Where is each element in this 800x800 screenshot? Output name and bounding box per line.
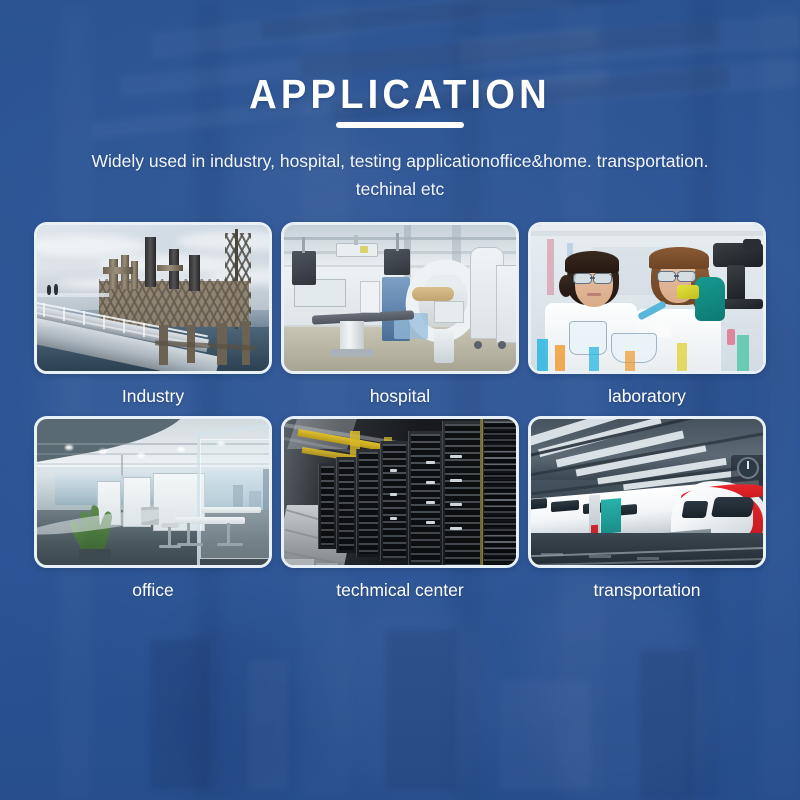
tile-hospital-frame[interactable]: [281, 222, 519, 374]
tile-laboratory-frame[interactable]: [528, 222, 766, 374]
high-speed-train-station-photo: [531, 419, 763, 565]
tile-office[interactable]: office: [34, 416, 272, 601]
tile-industry[interactable]: Industry: [34, 222, 272, 407]
tile-row-1: Industry: [34, 222, 766, 407]
tile-row-2: office: [34, 416, 766, 601]
page-subtitle: Widely used in industry, hospital, testi…: [90, 147, 710, 203]
tile-techmical-center[interactable]: techmical center: [281, 416, 519, 601]
tile-caption-techmical-center: techmical center: [281, 579, 519, 601]
tile-caption-laboratory: laboratory: [528, 385, 766, 407]
tile-hospital[interactable]: hospital: [281, 222, 519, 407]
tile-laboratory[interactable]: laboratory: [528, 222, 766, 407]
tile-transportation[interactable]: transportation: [528, 416, 766, 601]
offshore-oil-rig-photo: [37, 225, 269, 371]
tile-transportation-frame[interactable]: [528, 416, 766, 568]
tile-caption-hospital: hospital: [281, 385, 519, 407]
application-tile-grid: Industry: [34, 222, 766, 610]
tile-industry-frame[interactable]: [34, 222, 272, 374]
tile-techmical-center-frame[interactable]: [281, 416, 519, 568]
data-center-server-racks-photo: [284, 419, 516, 565]
tile-caption-industry: Industry: [34, 385, 272, 407]
hospital-operating-room-photo: [284, 225, 516, 371]
tile-office-frame[interactable]: [34, 416, 272, 568]
laboratory-scientists-photo: [531, 225, 763, 371]
title-underline: [336, 122, 464, 128]
page-title: APPLICATION: [28, 70, 772, 118]
tile-caption-transportation: transportation: [528, 579, 766, 601]
open-plan-office-photo: [37, 419, 269, 565]
tile-caption-office: office: [34, 579, 272, 601]
